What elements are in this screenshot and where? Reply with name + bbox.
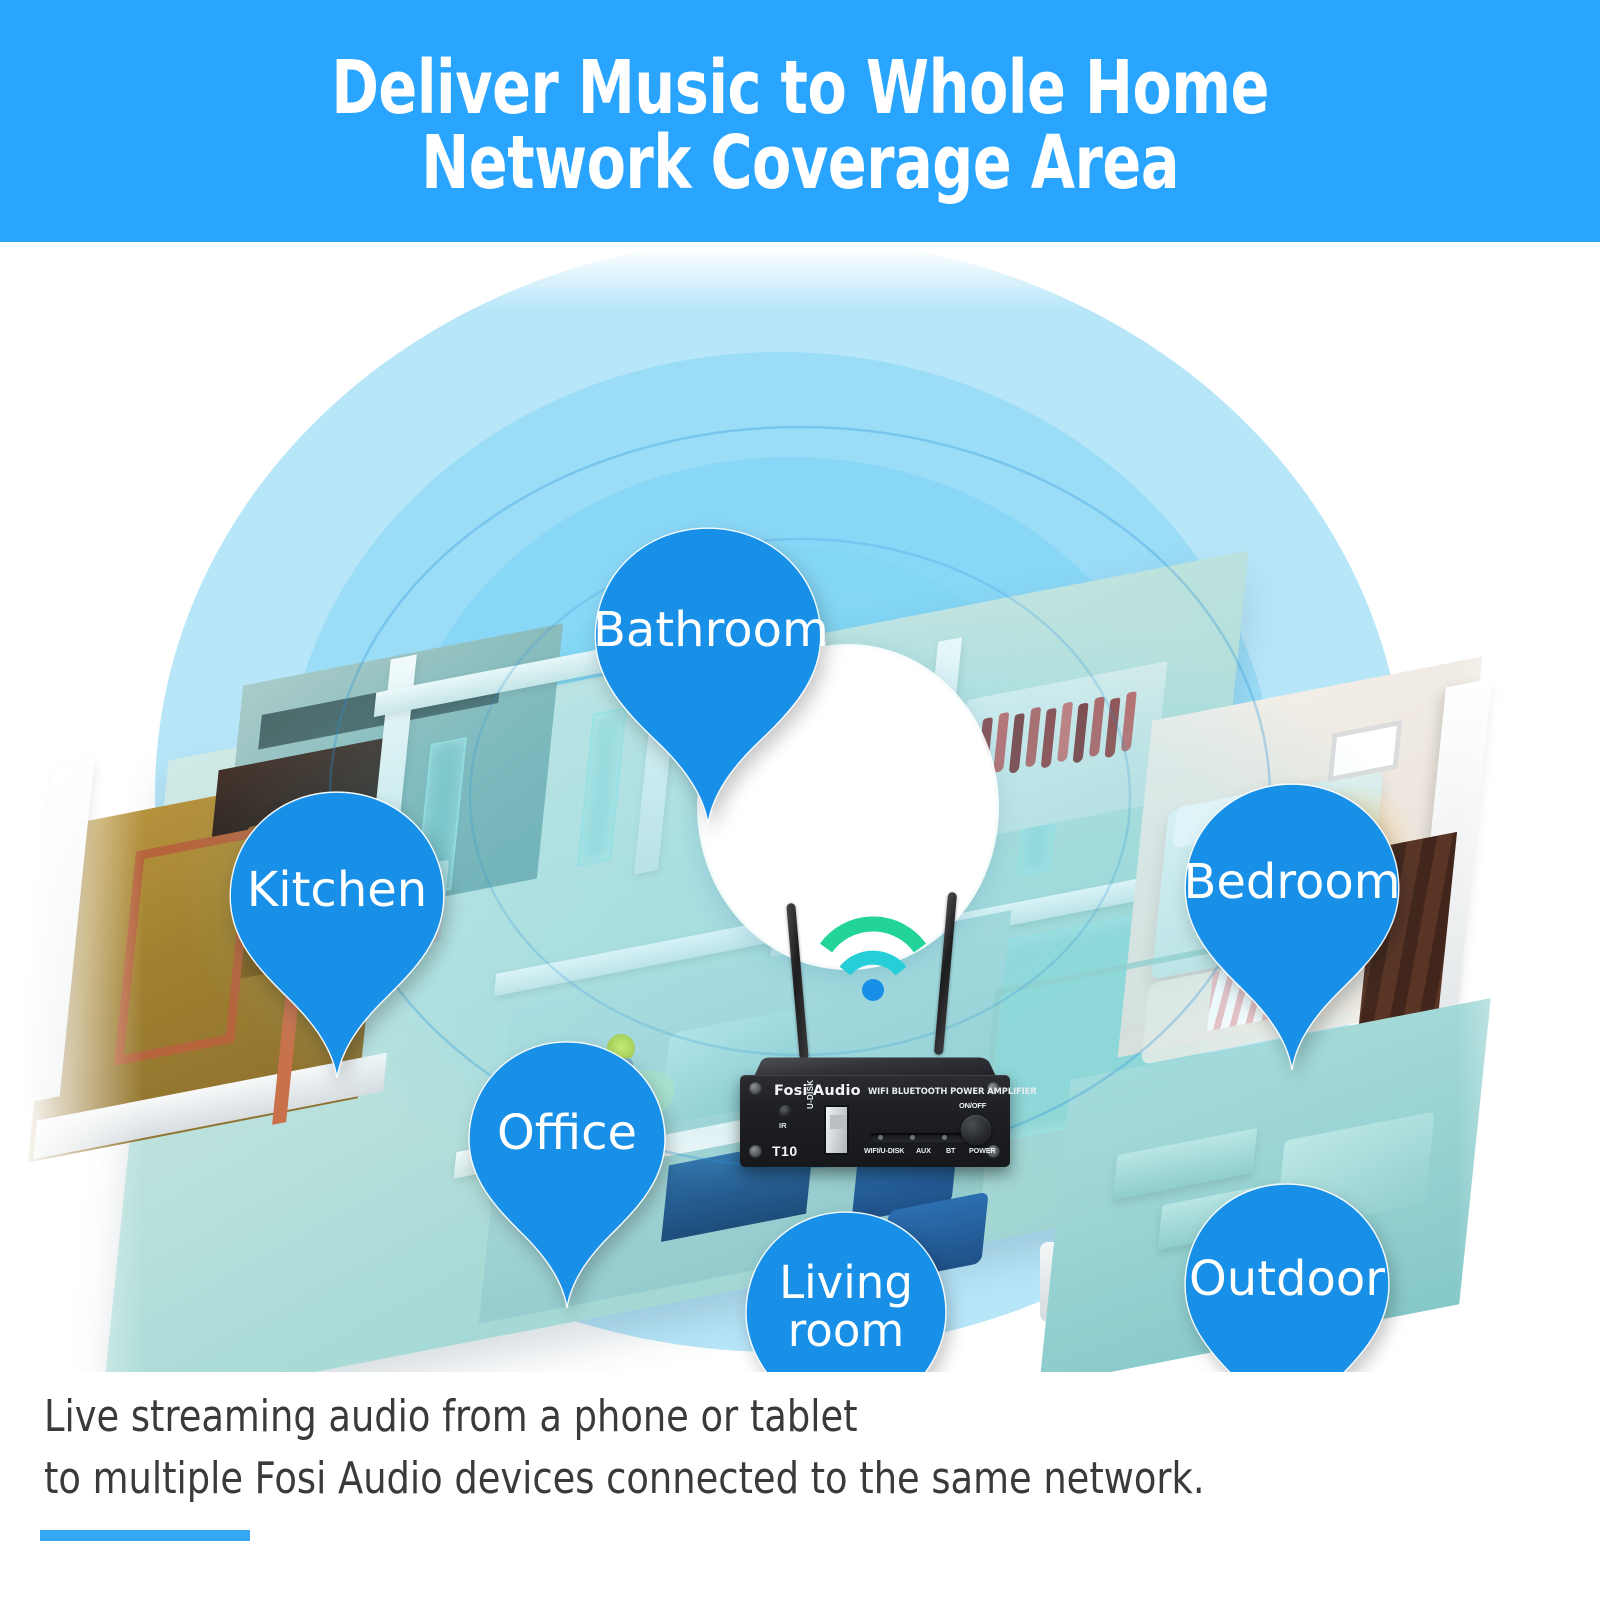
pin-teardrop-shape: [744, 1210, 948, 1372]
jack-label-bt: BT: [946, 1146, 955, 1155]
jack-label-power: POWER: [969, 1146, 995, 1155]
pin-kitchen[interactable]: Kitchen: [228, 790, 446, 1080]
accent-bar: [40, 1530, 250, 1541]
page-title: Deliver Music to Whole Home Network Cove…: [331, 41, 1269, 202]
header-banner: Deliver Music to Whole Home Network Cove…: [0, 0, 1600, 242]
screw-bottom-left: [749, 1145, 762, 1158]
jack-label-aux: AUX: [916, 1146, 931, 1155]
jack-label-wifi-udisk: WIFI/U-DISK: [864, 1146, 904, 1155]
jack-notch-3: [942, 1135, 947, 1140]
caption-text: Live streaming audio from a phone or tab…: [44, 1386, 1346, 1511]
wifi-signal-icon: [818, 914, 928, 1004]
pin-teardrop-shape: [593, 526, 823, 826]
jack-notch-1: [878, 1135, 883, 1140]
screw-top-left: [749, 1082, 762, 1095]
jack-notch-2: [910, 1135, 915, 1140]
brand-label: Fosi Audio: [774, 1083, 861, 1099]
pin-teardrop-shape: [228, 790, 446, 1080]
pin-teardrop-shape: [1183, 782, 1401, 1072]
tagline-label: WIFI BLUETOOTH POWER AMPLIFIER: [868, 1086, 1037, 1096]
pin-teardrop-shape: [1183, 1182, 1391, 1372]
coverage-scene: Fosi Audio WIFI BLUETOOTH POWER AMPLIFIE…: [0, 242, 1600, 1372]
udisk-label: U-DISK: [806, 1080, 815, 1109]
pin-office[interactable]: Office: [467, 1040, 667, 1310]
pin-outdoor[interactable]: Outdoor: [1183, 1182, 1391, 1372]
ir-label: IR: [779, 1121, 787, 1130]
pin-bathroom[interactable]: Bathroom: [593, 526, 823, 826]
infographic-page: Deliver Music to Whole Home Network Cove…: [0, 0, 1600, 1600]
pin-teardrop-shape: [467, 1040, 667, 1310]
power-button-label: ON/OFF: [959, 1101, 986, 1110]
pin-bedroom[interactable]: Bedroom: [1183, 782, 1401, 1072]
ir-receiver: [779, 1105, 792, 1118]
amplifier-device: Fosi Audio WIFI BLUETOOTH POWER AMPLIFIE…: [737, 1045, 1013, 1170]
usb-port[interactable]: [824, 1105, 849, 1155]
amplifier-front-panel: Fosi Audio WIFI BLUETOOTH POWER AMPLIFIE…: [740, 1075, 1010, 1167]
model-label: T10: [772, 1143, 798, 1159]
power-button[interactable]: [961, 1115, 991, 1145]
pin-living-room[interactable]: Living room: [744, 1210, 948, 1372]
